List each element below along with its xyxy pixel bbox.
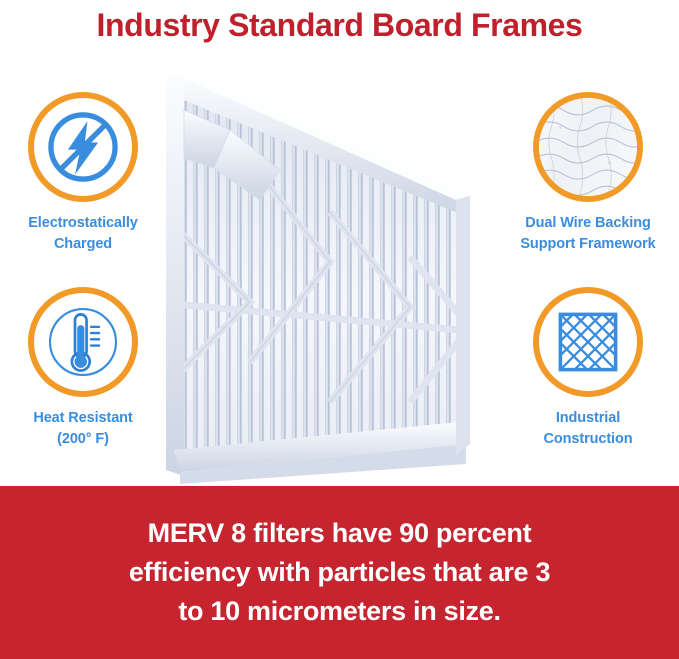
pleated-air-filter-photo: [160, 72, 512, 484]
feature-caption-line1: Dual Wire Backing: [498, 213, 678, 234]
feature-dual-wire-backing: Dual Wire Backing Support Framework: [498, 92, 678, 254]
feature-icon-ring: [28, 92, 138, 202]
feature-industrial-construction: Industrial Construction: [498, 287, 678, 449]
wire-mesh-photo-icon: [539, 98, 637, 196]
feature-caption-line2: Charged: [0, 234, 173, 255]
page-title: Industry Standard Board Frames: [0, 0, 679, 52]
feature-heat-resistant: Heat Resistant (200° F): [0, 287, 173, 449]
feature-caption-line1: Electrostatically: [0, 213, 173, 234]
feature-caption: Heat Resistant (200° F): [0, 408, 173, 449]
banner-text: MERV 8 filters have 90 percent efficienc…: [83, 514, 596, 631]
feature-caption-line1: Industrial: [498, 408, 678, 429]
banner-line-3: to 10 micrometers in size.: [129, 592, 550, 631]
feature-caption-line1: Heat Resistant: [0, 408, 173, 429]
feature-caption-line2: Support Framework: [498, 234, 678, 255]
banner-line-1: MERV 8 filters have 90 percent: [129, 514, 550, 553]
feature-icon-ring: [533, 287, 643, 397]
feature-icon-ring: [533, 92, 643, 202]
banner-line-2: efficiency with particles that are 3: [129, 553, 550, 592]
feature-caption-line2: (200° F): [0, 429, 173, 450]
feature-caption: Industrial Construction: [498, 408, 678, 449]
feature-caption: Electrostatically Charged: [0, 213, 173, 254]
feature-icon-ring: [28, 287, 138, 397]
feature-electrostatically-charged: Electrostatically Charged: [0, 92, 173, 254]
feature-caption-line2: Construction: [498, 429, 678, 450]
merv-rating-banner: MERV 8 filters have 90 percent efficienc…: [0, 486, 679, 659]
feature-caption: Dual Wire Backing Support Framework: [498, 213, 678, 254]
